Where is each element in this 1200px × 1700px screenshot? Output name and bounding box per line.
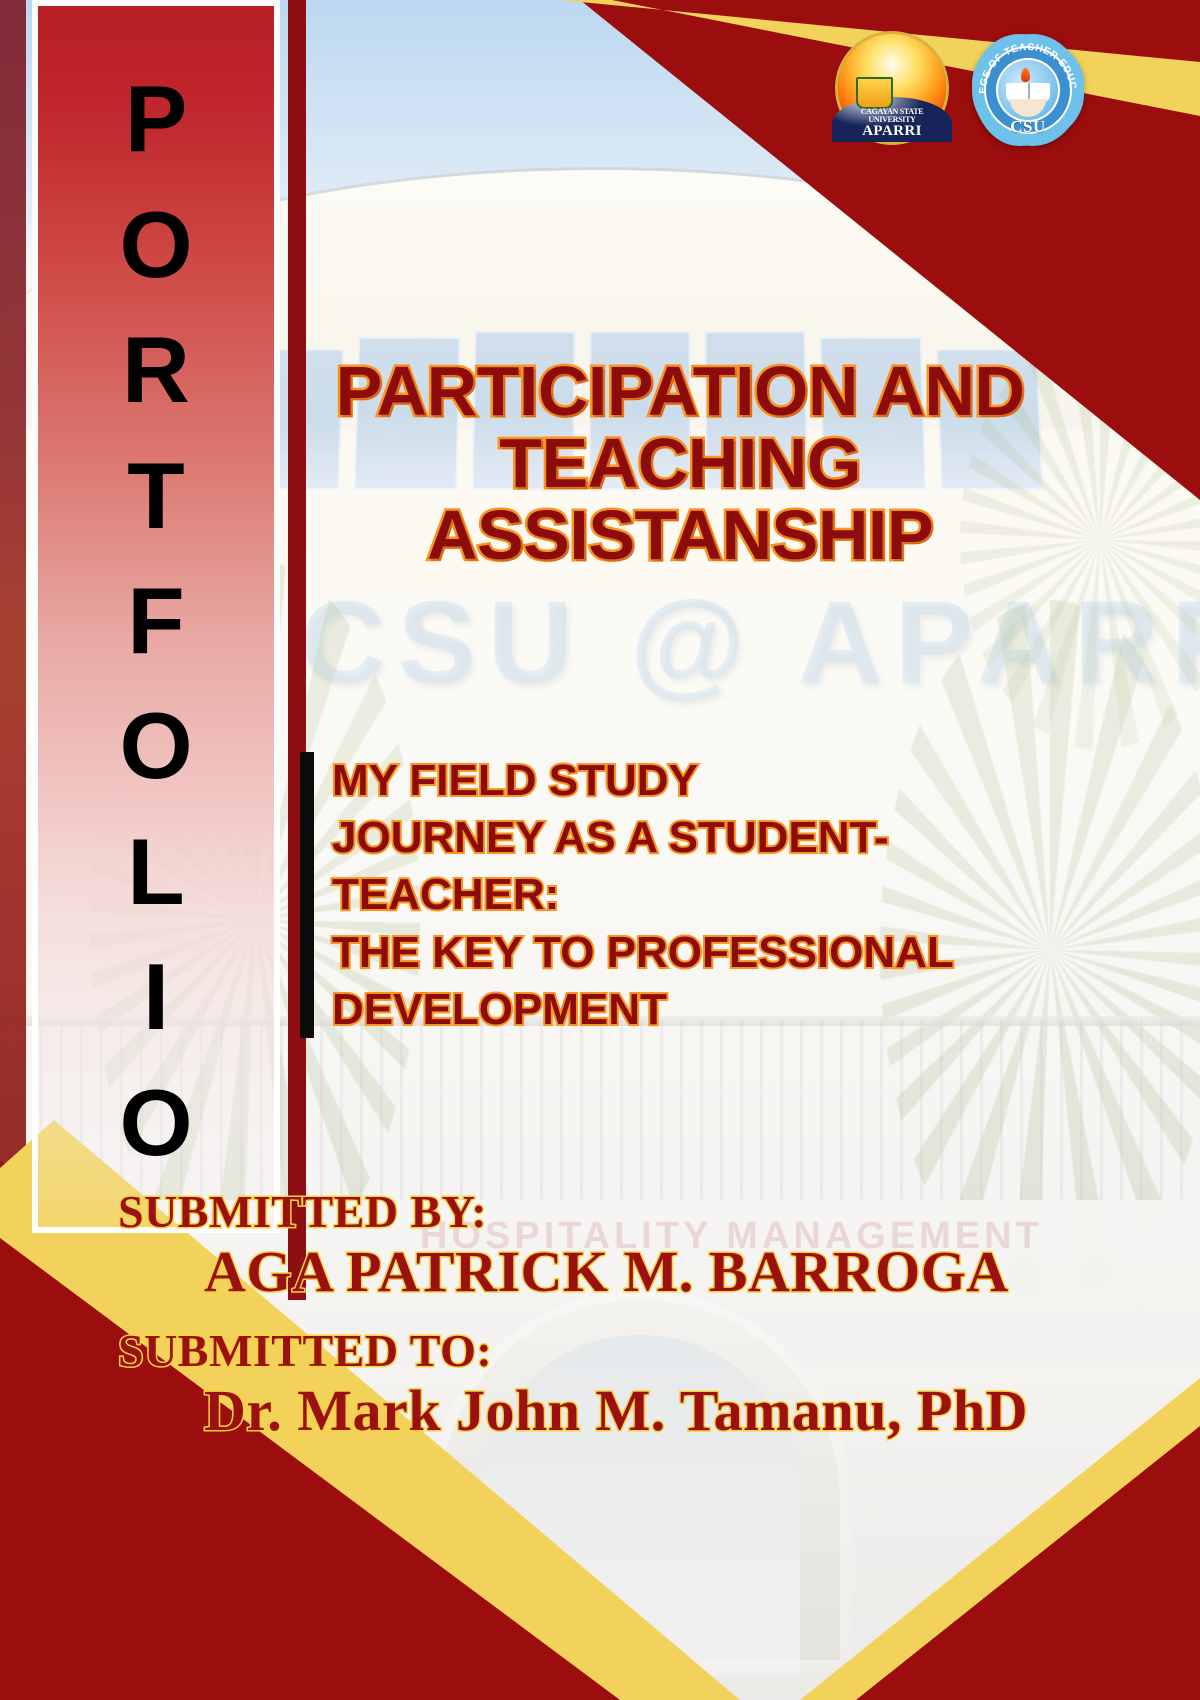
subtitle-accent-bar — [300, 752, 314, 1038]
portfolio-cover-page: CSU @ APARRI HOSPITALITY MANAGEMENT P O … — [0, 0, 1200, 1700]
portfolio-letter: I — [143, 958, 169, 1035]
college-of-teacher-education-seal-icon: COLLEGE OF TEACHER EDUCATION CSU — [972, 34, 1084, 146]
submitted-to-label: SUBMITTED TO: — [118, 1325, 1098, 1377]
portfolio-letter: O — [119, 206, 192, 283]
subtitle-line-3: TEACHER: — [332, 866, 954, 923]
portfolio-vertical-banner: P O R T F O L I O — [32, 0, 280, 1233]
portfolio-letter: R — [122, 331, 190, 408]
banner-side-bar — [288, 0, 306, 1300]
submitted-by-label: SUBMITTED BY: — [118, 1186, 1098, 1238]
submitted-by-value: AGA PATRICK M. BARROGA — [118, 1238, 1098, 1306]
seal-acronym: CSU — [972, 117, 1084, 137]
csu-aparri-seal-icon: CAGAYAN STATE UNIVERSITY APARRI — [838, 34, 946, 142]
seal-line-3: APARRI — [838, 124, 946, 139]
portfolio-letter: L — [127, 833, 184, 910]
torch-flame-icon — [1021, 68, 1030, 82]
cover-subtitle: MY FIELD STUDY JOURNEY AS A STUDENT- TEA… — [332, 752, 954, 1038]
cover-main-title: PARTICIPATION AND TEACHING ASSISTANSHIP — [300, 355, 1060, 571]
subtitle-line-1: MY FIELD STUDY — [332, 752, 954, 809]
subtitle-line-2: JOURNEY AS A STUDENT- — [332, 809, 954, 866]
subtitle-line-5: DEVELOPMENT — [332, 981, 954, 1038]
portfolio-letter: O — [119, 707, 192, 784]
title-line-2: TEACHING — [300, 427, 1060, 499]
portfolio-letter: T — [127, 457, 184, 534]
logo-group: CAGAYAN STATE UNIVERSITY APARRI COLLEGE … — [838, 34, 1084, 146]
portfolio-letter: F — [127, 582, 184, 659]
portfolio-letter: O — [119, 1084, 192, 1161]
subtitle-line-4: THE KEY TO PROFESSIONAL — [332, 924, 954, 981]
portfolio-letter: P — [125, 80, 188, 157]
title-line-1: PARTICIPATION AND — [300, 355, 1060, 427]
cover-subtitle-block: MY FIELD STUDY JOURNEY AS A STUDENT- TEA… — [300, 752, 1020, 1038]
submission-details: SUBMITTED BY: AGA PATRICK M. BARROGA SUB… — [118, 1186, 1098, 1446]
seal-shield-shape — [856, 77, 892, 109]
submitted-to-value: Dr. Mark John M. Tamanu, PhD — [118, 1377, 1098, 1445]
title-line-3: ASSISTANSHIP — [300, 499, 1060, 571]
